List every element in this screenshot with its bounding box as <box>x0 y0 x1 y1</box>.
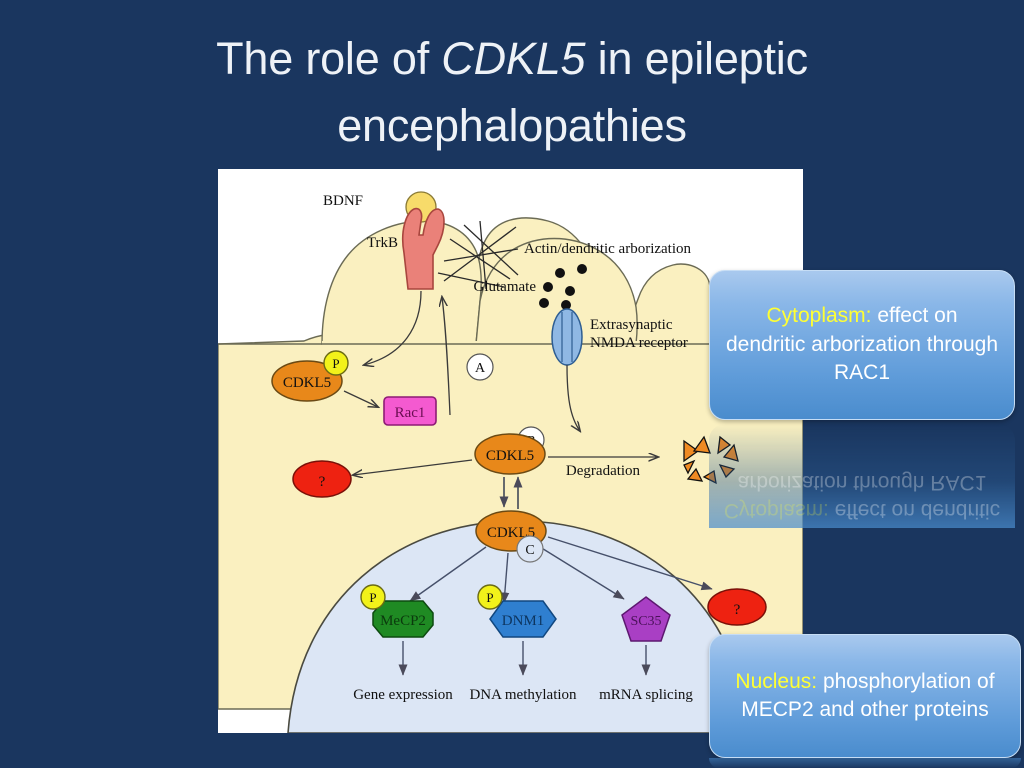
step-a-label: A <box>475 361 486 376</box>
title-gene-name: CDKL5 <box>441 33 585 84</box>
sc35-label: SC35 <box>630 614 661 629</box>
page-title: The role of CDKL5 in epileptic encephalo… <box>60 26 964 159</box>
nmda-receptor-icon <box>552 309 582 365</box>
nmda-label-line1: Extrasynaptic <box>590 317 673 333</box>
callout-cytoplasm-highlight: Cytoplasm: <box>766 304 871 327</box>
nmda-label-line2: NMDA receptor <box>590 335 688 351</box>
unknown-target-nucleus-label: ? <box>734 602 741 618</box>
callout-nucleus[interactable]: Nucleus: phosphorylation of MECP2 and ot… <box>709 634 1021 758</box>
cdkl5-center-label: CDKL5 <box>486 448 534 464</box>
degradation-label: Degradation <box>566 463 641 479</box>
callout-cytoplasm[interactable]: Cytoplasm: effect on dendritic arborizat… <box>709 270 1015 420</box>
step-c-label: C <box>525 543 534 558</box>
unknown-target-cytoplasm-label: ? <box>319 474 326 490</box>
phospho-label-mecp2: P <box>369 590 376 605</box>
phospho-label-dnm1: P <box>486 590 493 605</box>
title-text-before: The role of <box>216 33 441 84</box>
dna-methylation-label: DNA methylation <box>469 687 577 703</box>
trkb-label: TrkB <box>367 235 398 251</box>
cdkl5-cytoplasm-label: CDKL5 <box>283 375 331 391</box>
callout-nucleus-highlight: Nucleus: <box>735 670 817 693</box>
rac1-label: Rac1 <box>395 405 426 421</box>
bdnf-label: BDNF <box>323 193 363 209</box>
mrna-splicing-label: mRNA splicing <box>599 687 693 703</box>
gene-expression-label: Gene expression <box>353 687 453 703</box>
slide-canvas: The role of CDKL5 in epileptic encephalo… <box>0 0 1024 768</box>
mecp2-label: MeCP2 <box>380 613 426 629</box>
dnm1-label: DNM1 <box>502 613 545 629</box>
glutamate-label: Glutamate <box>474 279 537 295</box>
actin-arborization-label: Actin/dendritic arborization <box>524 241 692 257</box>
nucleus-callout-reflection <box>709 758 1021 768</box>
phospho-label-cdkl5: P <box>332 356 339 371</box>
